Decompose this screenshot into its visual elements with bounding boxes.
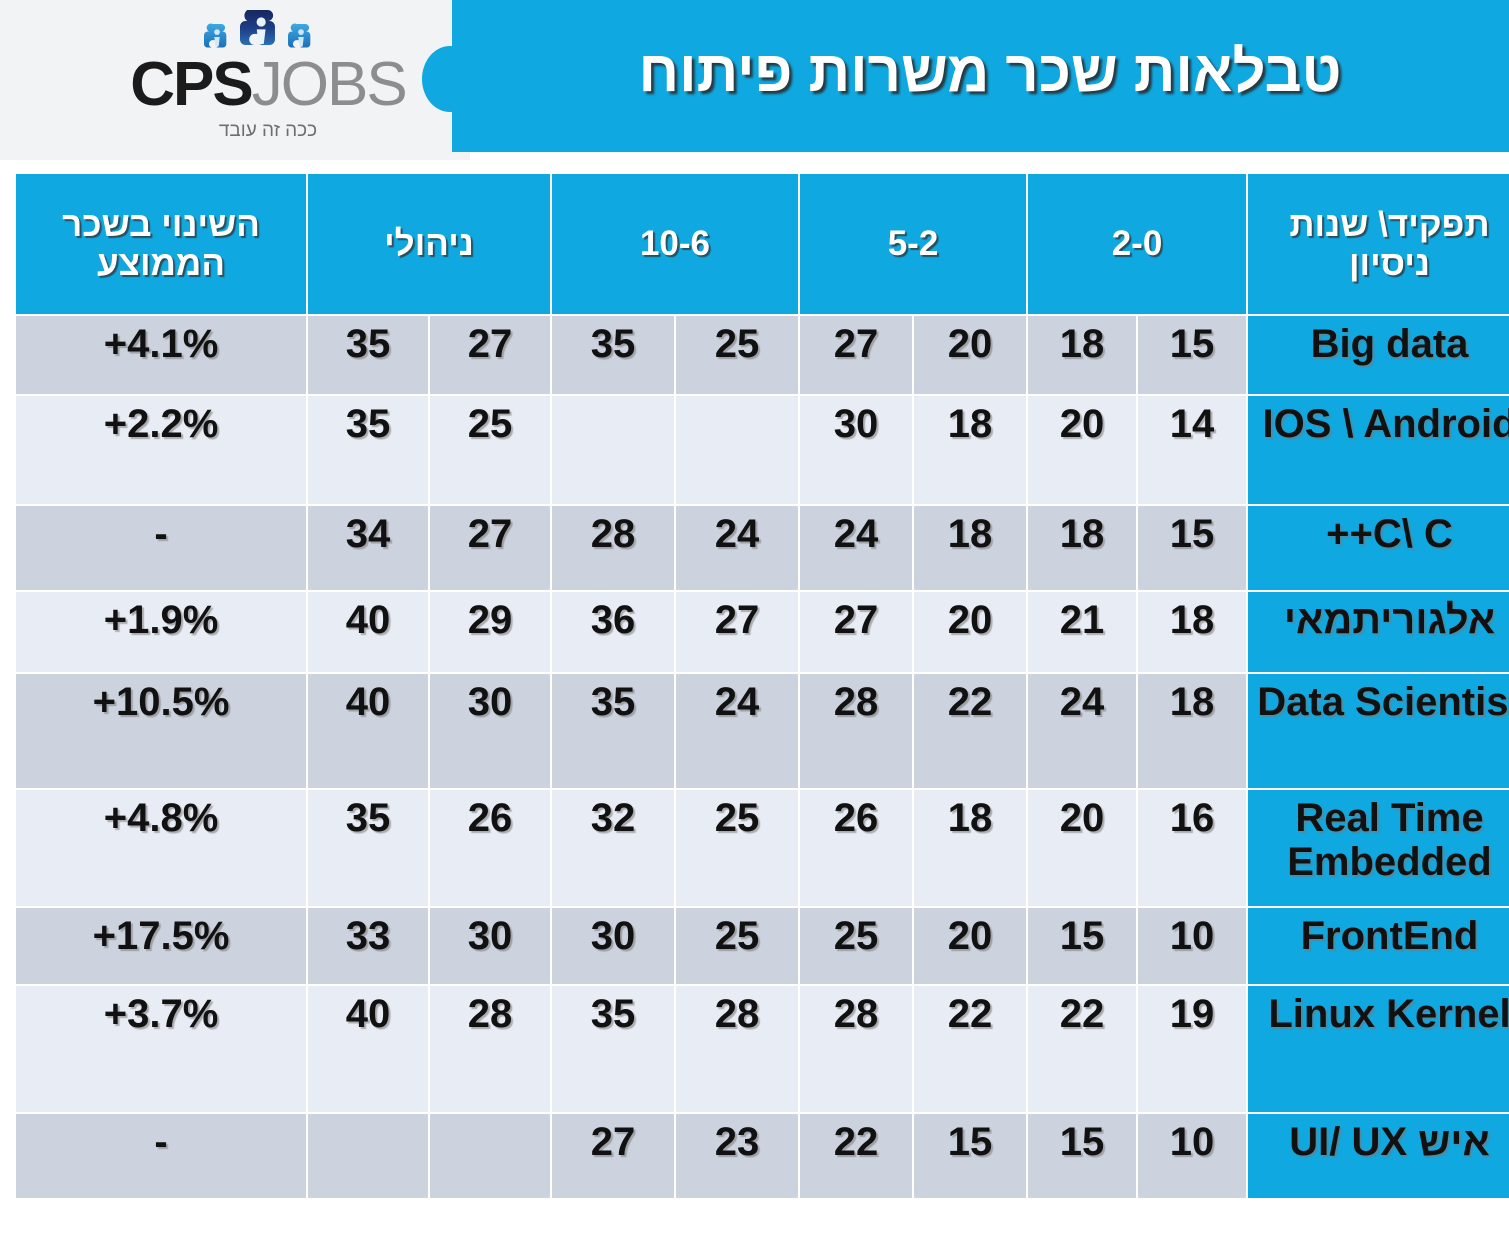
cell-0-2-max: 15 [1028,1114,1136,1198]
table-row: - 27 23 22 15 15 10 איש UI/ UX [16,1114,1509,1198]
cell-2-5-min: 20 [914,908,1026,984]
cell-salary-change: +10.5% [16,674,306,788]
cell-0-2-max: 20 [1028,396,1136,504]
cell-managerial-max: 40 [308,674,428,788]
cell-salary-change: +4.8% [16,790,306,906]
cell-role-label: Linux Kernel [1248,986,1509,1112]
table-row: +17.5% 33 30 30 25 25 20 15 10 FrontEnd [16,908,1509,984]
table-row: +4.1% 35 27 35 25 27 20 18 15 Big data [16,316,1509,394]
cell-role-label: Big data [1248,316,1509,394]
cell-2-5-min: 18 [914,506,1026,590]
cell-managerial-max [308,1114,428,1198]
cell-salary-change: +17.5% [16,908,306,984]
cell-managerial-min: 30 [430,908,550,984]
cell-0-2-max: 18 [1028,316,1136,394]
cell-managerial-min: 29 [430,592,550,672]
cell-0-2-min: 16 [1138,790,1246,906]
cell-6-10-max: 35 [552,316,674,394]
cell-role-label: איש UI/ UX [1248,1114,1509,1198]
cell-2-5-min: 15 [914,1114,1026,1198]
cell-0-2-max: 24 [1028,674,1136,788]
cell-salary-change: +1.9% [16,592,306,672]
cell-0-2-min: 14 [1138,396,1246,504]
column-header-2-5-years: 5-2 [800,174,1026,314]
cell-0-2-min: 18 [1138,674,1246,788]
table-row: - 34 27 28 24 24 18 18 15 ++C\ C [16,506,1509,590]
cell-salary-change: - [16,1114,306,1198]
cell-2-5-max: 30 [800,396,912,504]
cell-2-5-min: 22 [914,674,1026,788]
cell-managerial-min: 30 [430,674,550,788]
cell-managerial-max: 35 [308,790,428,906]
cell-2-5-max: 27 [800,316,912,394]
cell-6-10-min [676,396,798,504]
cell-2-5-max: 28 [800,674,912,788]
table-row: +1.9% 40 29 36 27 27 20 21 18 אלגוריתמאי [16,592,1509,672]
cell-0-2-min: 19 [1138,986,1246,1112]
cell-0-2-min: 18 [1138,592,1246,672]
cell-2-5-max: 28 [800,986,912,1112]
cell-0-2-min: 15 [1138,316,1246,394]
cell-managerial-max: 35 [308,396,428,504]
cell-0-2-max: 22 [1028,986,1136,1112]
table-row: +4.8% 35 26 32 25 26 18 20 16 Real Time … [16,790,1509,906]
cell-6-10-min: 25 [676,316,798,394]
column-header-6-10-years: 10-6 [552,174,798,314]
column-header-salary-change: השינוי בשכר הממוצע [16,174,306,314]
cell-managerial-max: 40 [308,592,428,672]
cell-0-2-min: 10 [1138,1114,1246,1198]
cell-6-10-min: 28 [676,986,798,1112]
cell-2-5-min: 20 [914,592,1026,672]
salary-table-container: השינוי בשכר הממוצע ניהולי 10-6 5-2 2-0 ת… [14,172,1495,1200]
page-title: טבלאות שכר משרות פיתוח [500,38,1480,105]
cell-managerial-min: 26 [430,790,550,906]
cell-6-10-min: 23 [676,1114,798,1198]
cell-role-label: ++C\ C [1248,506,1509,590]
cell-2-5-min: 22 [914,986,1026,1112]
cell-6-10-max: 27 [552,1114,674,1198]
cell-managerial-max: 35 [308,316,428,394]
cell-2-5-max: 25 [800,908,912,984]
cell-managerial-max: 40 [308,986,428,1112]
cell-salary-change: +4.1% [16,316,306,394]
cell-managerial-min [430,1114,550,1198]
cell-6-10-min: 27 [676,592,798,672]
cell-role-label: FrontEnd [1248,908,1509,984]
cell-role-label: IOS \ Android [1248,396,1509,504]
cps-jobs-logo: CPSJOBS ככה זה עובד [118,8,418,148]
cell-2-5-min: 18 [914,790,1026,906]
cell-managerial-min: 27 [430,316,550,394]
cell-0-2-max: 20 [1028,790,1136,906]
column-header-managerial: ניהולי [308,174,550,314]
salary-table: השינוי בשכר הממוצע ניהולי 10-6 5-2 2-0 ת… [14,172,1509,1200]
cell-managerial-min: 28 [430,986,550,1112]
cell-6-10-min: 24 [676,674,798,788]
table-header-row: השינוי בשכר הממוצע ניהולי 10-6 5-2 2-0 ת… [16,174,1509,314]
cell-managerial-min: 27 [430,506,550,590]
table-row: +2.2% 35 25 30 18 20 14 IOS \ Android [16,396,1509,504]
column-header-role-experience: תפקיד\ שנות ניסיון [1248,174,1509,314]
table-row: +3.7% 40 28 35 28 28 22 22 19 Linux Kern… [16,986,1509,1112]
cell-6-10-max: 28 [552,506,674,590]
slide-header: CPSJOBS ככה זה עובד טבלאות שכר משרות פית… [0,0,1509,160]
cell-2-5-max: 27 [800,592,912,672]
cell-0-2-max: 15 [1028,908,1136,984]
cell-6-10-max: 35 [552,986,674,1112]
cell-0-2-max: 21 [1028,592,1136,672]
cell-0-2-max: 18 [1028,506,1136,590]
cell-managerial-max: 33 [308,908,428,984]
table-row: +10.5% 40 30 35 24 28 22 24 18 Data Scie… [16,674,1509,788]
cell-role-label: Data Scientist [1248,674,1509,788]
slide-canvas: CPSJOBS ככה זה עובד טבלאות שכר משרות פית… [0,0,1509,1236]
cell-role-label: Real Time Embedded [1248,790,1509,906]
cell-0-2-min: 15 [1138,506,1246,590]
cell-2-5-max: 24 [800,506,912,590]
logo-wordmark: CPSJOBS [118,54,418,116]
column-header-0-2-years: 2-0 [1028,174,1246,314]
cell-6-10-max: 32 [552,790,674,906]
cell-salary-change: +2.2% [16,396,306,504]
logo-brand-secondary: JOBS [252,50,406,119]
cell-0-2-min: 10 [1138,908,1246,984]
cell-salary-change: - [16,506,306,590]
cell-managerial-max: 34 [308,506,428,590]
cell-6-10-min: 24 [676,506,798,590]
cell-2-5-min: 18 [914,396,1026,504]
puzzle-tab-joint [452,0,478,152]
cell-managerial-min: 25 [430,396,550,504]
cell-6-10-max: 30 [552,908,674,984]
cell-role-label: אלגוריתמאי [1248,592,1509,672]
logo-brand-primary: CPS [130,50,251,119]
cell-2-5-max: 22 [800,1114,912,1198]
cell-2-5-min: 20 [914,316,1026,394]
cell-6-10-max: 35 [552,674,674,788]
cell-2-5-max: 26 [800,790,912,906]
cell-6-10-max [552,396,674,504]
cell-6-10-max: 36 [552,592,674,672]
cell-6-10-min: 25 [676,908,798,984]
logo-tagline: ככה זה עובד [118,120,418,142]
cell-salary-change: +3.7% [16,986,306,1112]
cell-6-10-min: 25 [676,790,798,906]
